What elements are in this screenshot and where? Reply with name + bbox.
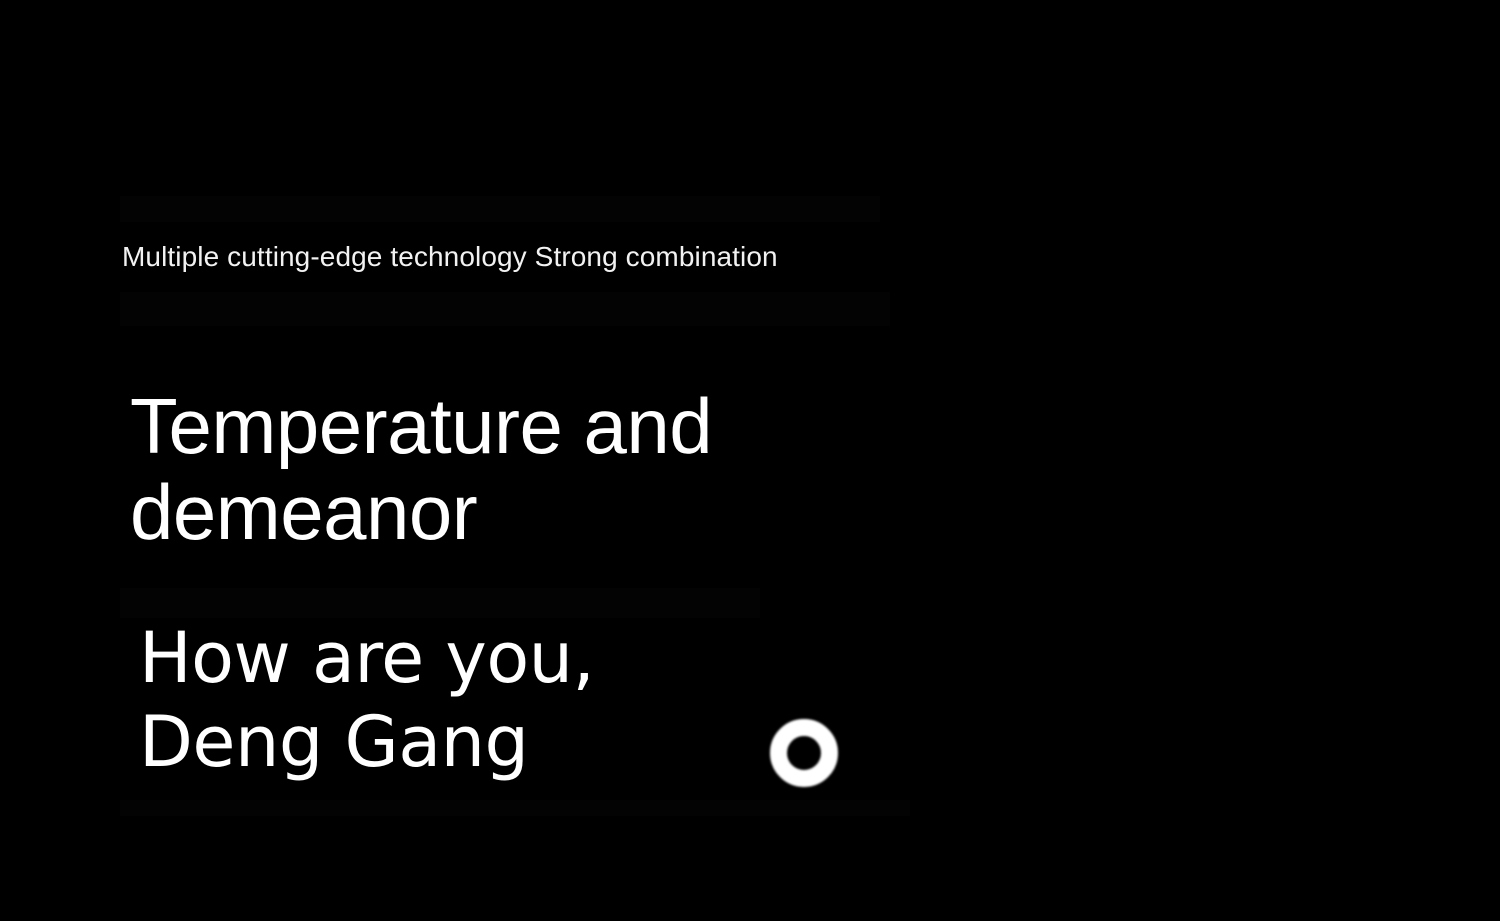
background-artifact-band [120,588,760,618]
slide-headline-primary: Temperature and demeanor [130,383,712,555]
slide-subtitle: Multiple cutting-edge technology Strong … [122,240,778,274]
slide-canvas: Multiple cutting-edge technology Strong … [0,0,1500,921]
ring-icon [770,719,838,787]
background-artifact-band [120,800,910,816]
background-artifact-band [120,292,890,326]
slide-headline-secondary: How are you, Deng Gang [139,616,594,784]
background-artifact-band [120,196,880,222]
